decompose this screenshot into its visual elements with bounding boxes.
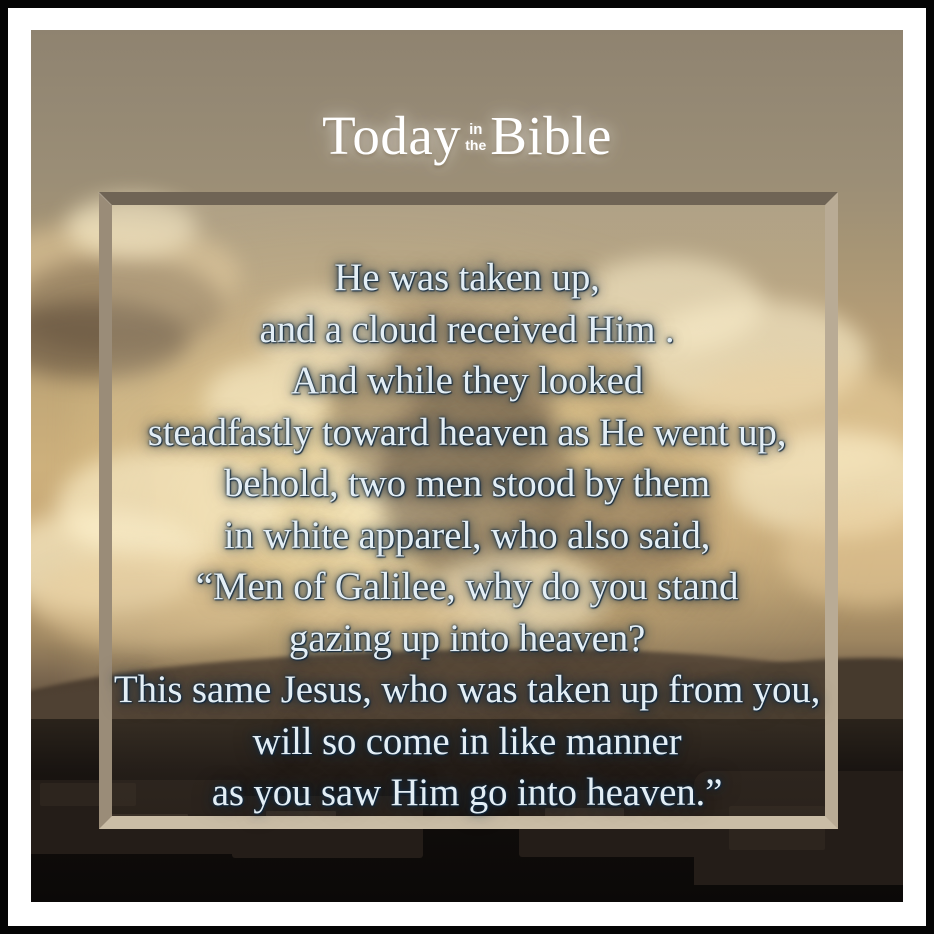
verse-line: and a cloud received Him . — [71, 304, 863, 356]
verse-line: will so come in like manner — [71, 716, 863, 768]
verse-line: steadfastly toward heaven as He went up, — [71, 407, 863, 459]
verse-line: in white apparel, who also said, — [71, 510, 863, 562]
verse-line: He was taken up, — [71, 252, 863, 304]
page-title: TodayintheBible — [31, 108, 903, 163]
verse-line: behold, two men stood by them — [71, 458, 863, 510]
white-mat: TodayintheBible He was taken up, and a c… — [8, 8, 926, 926]
title-word-today: Today — [322, 105, 461, 166]
verse-line: as you saw Him go into heaven.” — [71, 767, 863, 819]
verse-line: This same Jesus, who was taken up from y… — [71, 664, 863, 716]
verse-text-block: He was taken up, and a cloud received Hi… — [31, 252, 903, 819]
title-small-stack: inthe — [465, 122, 486, 152]
verse-line: “Men of Galilee, why do you stand — [71, 561, 863, 613]
verse-line: gazing up into heaven? — [71, 613, 863, 665]
title-word-bible: Bible — [490, 105, 612, 166]
title-small-in: in — [465, 122, 486, 138]
title-small-the: the — [465, 138, 486, 153]
background-photograph: TodayintheBible He was taken up, and a c… — [31, 30, 903, 902]
poster-root: TodayintheBible He was taken up, and a c… — [0, 0, 934, 934]
verse-line: And while they looked — [71, 355, 863, 407]
